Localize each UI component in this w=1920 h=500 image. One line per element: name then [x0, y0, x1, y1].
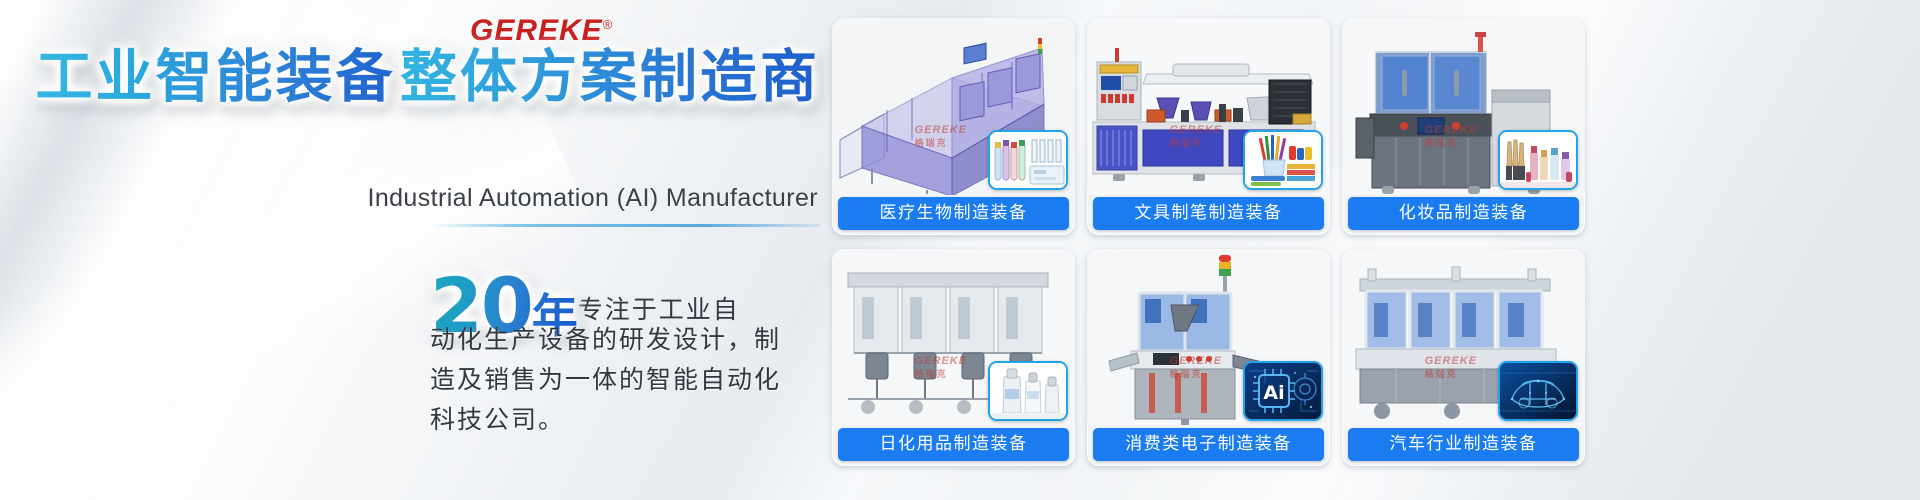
body-copy-line-3: 科技公司。 [430, 400, 822, 440]
promo-banner: GEREKE® 工业智能装备 整体方案制造商 Industrial Automa… [0, 0, 1920, 500]
watermark: GEREKE格瑞克 [1170, 124, 1222, 149]
cosmetics-products-icon [1500, 132, 1576, 188]
ai-badge-text: Ai [1263, 382, 1284, 404]
registered-mark: ® [603, 17, 614, 32]
card-label[interactable]: 消费类电子制造装备 [1093, 428, 1324, 461]
product-card-grid: GEREKE格瑞克 [832, 18, 1592, 482]
card-inset-thumbnail [988, 130, 1068, 190]
card-inset-thumbnail: Ai [1243, 361, 1323, 421]
card-artwork: GEREKE格瑞克 [1342, 249, 1585, 426]
copy-block: GEREKE® 工业智能装备 整体方案制造商 Industrial Automa… [0, 0, 830, 500]
card-label[interactable]: 日化用品制造装备 [838, 428, 1069, 461]
headline-line-1: 工业智能装备 [36, 46, 396, 108]
card-inset-thumbnail [1243, 130, 1323, 190]
divider-rule [430, 224, 820, 227]
headline: 工业智能装备 整体方案制造商 [0, 46, 830, 108]
card-inset-thumbnail [1498, 361, 1578, 421]
blood-collection-tubes-icon [990, 132, 1066, 188]
brand-logo: GEREKE® [470, 14, 613, 48]
watermark: GEREKE格瑞克 [1425, 355, 1477, 380]
brand-name: GEREKE [470, 14, 603, 47]
product-card-automotive[interactable]: GEREKE格瑞克 [1342, 249, 1585, 466]
body-copy-line-2: 造及销售为一体的智能自动化 [430, 360, 822, 400]
card-label[interactable]: 医疗生物制造装备 [838, 197, 1069, 230]
shampoo-tubes-icon [990, 363, 1066, 419]
ai-chip-badge-icon: Ai [1245, 363, 1321, 419]
card-label[interactable]: 化妆品制造装备 [1348, 197, 1579, 230]
watermark: GEREKE格瑞克 [915, 355, 967, 380]
card-artwork: GEREKE格瑞克 [832, 249, 1075, 426]
watermark: GEREKE格瑞克 [915, 124, 967, 149]
card-artwork: GEREKE格瑞克 [1342, 18, 1585, 195]
watermark: GEREKE格瑞克 [1425, 124, 1477, 149]
watermark: GEREKE格瑞克 [1170, 355, 1222, 380]
card-artwork: GEREKE格瑞克 [1087, 249, 1330, 426]
stationery-pens-icon [1245, 132, 1321, 188]
card-artwork: GEREKE格瑞克 [1087, 18, 1330, 195]
product-card-medical[interactable]: GEREKE格瑞克 [832, 18, 1075, 235]
product-card-daily-chemical[interactable]: GEREKE格瑞克 日化用品制造装 [832, 249, 1075, 466]
product-card-stationery[interactable]: GEREKE格瑞克 [1087, 18, 1330, 235]
subtitle: Industrial Automation (AI) Manufacturer [0, 184, 830, 213]
body-copy-line-1: 动化生产设备的研发设计，制 [430, 320, 822, 360]
headline-line-2: 整体方案制造商 [400, 46, 820, 108]
card-inset-thumbnail [1498, 130, 1578, 190]
card-inset-thumbnail [988, 361, 1068, 421]
body-copy: 动化生产设备的研发设计，制 造及销售为一体的智能自动化 科技公司。 [430, 320, 822, 440]
product-card-electronics[interactable]: GEREKE格瑞克 [1087, 249, 1330, 466]
card-label[interactable]: 汽车行业制造装备 [1348, 428, 1579, 461]
card-artwork: GEREKE格瑞克 [832, 18, 1075, 195]
card-label[interactable]: 文具制笔制造装备 [1093, 197, 1324, 230]
product-card-cosmetics[interactable]: GEREKE格瑞克 [1342, 18, 1585, 235]
car-wireframe-tech-icon [1500, 363, 1576, 419]
